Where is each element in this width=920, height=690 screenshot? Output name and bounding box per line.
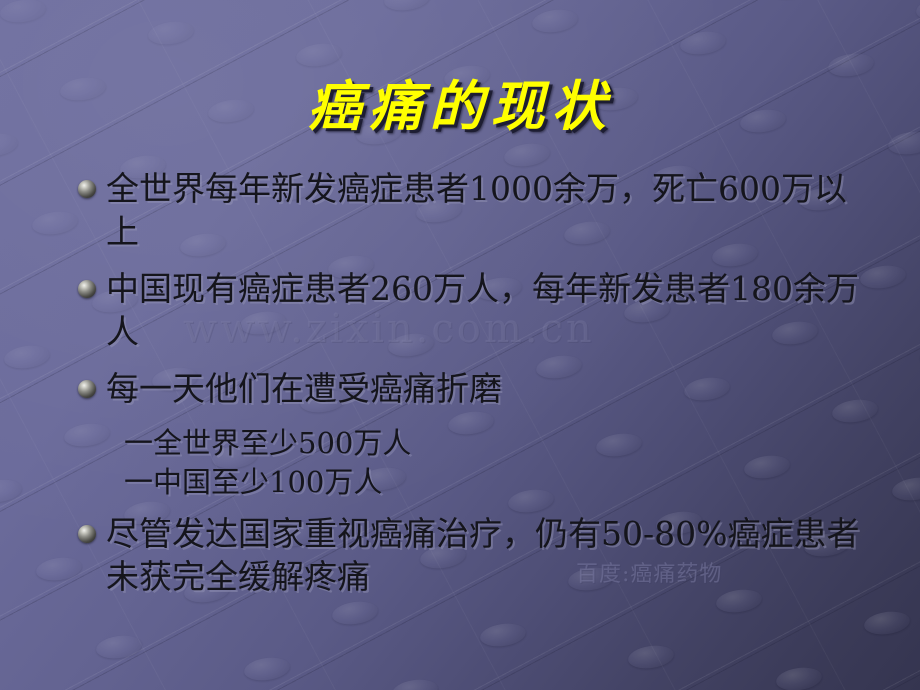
sphere-bullet-icon <box>78 180 96 198</box>
lattice-node <box>147 19 196 47</box>
lattice-node <box>383 0 432 13</box>
bullet-text: 中国现有癌症患者260万人，每年新发患者180余万人 <box>106 268 878 354</box>
lattice-node <box>679 29 728 57</box>
list-item: 尽管发达国家重视癌痛治疗，仍有50-80%癌症患者未获完全缓解疼痛 <box>78 513 878 599</box>
sub-list: 一全世界至少500万人 一中国至少100万人 <box>124 424 878 501</box>
lattice-node <box>391 677 440 690</box>
lattice-node <box>863 609 912 637</box>
bullet-text: 每一天他们在遭受癌痛折磨 <box>106 368 878 411</box>
sphere-bullet-icon <box>78 525 96 543</box>
sub-list-item: 一中国至少100万人 <box>124 463 878 501</box>
bullet-text: 尽管发达国家重视癌痛治疗，仍有50-80%癌症患者未获完全缓解疼痛 <box>106 513 878 599</box>
list-item: 每一天他们在遭受癌痛折磨 <box>78 368 878 411</box>
lattice-node <box>775 665 824 690</box>
lattice-node <box>95 633 144 661</box>
presentation-slide: 癌痛的现状 全世界每年新发癌症患者1000余万，死亡600万以上 中国现有癌症患… <box>0 0 920 690</box>
sphere-bullet-icon <box>78 380 96 398</box>
lattice-node <box>503 141 552 169</box>
list-item: 中国现有癌症患者260万人，每年新发患者180余万人 <box>78 268 878 354</box>
lattice-node <box>3 343 52 371</box>
sphere-bullet-icon <box>78 280 96 298</box>
lattice-node <box>531 7 580 35</box>
lattice-node <box>35 555 84 583</box>
slide-title: 癌痛的现状 <box>0 62 920 141</box>
lattice-node <box>891 475 920 503</box>
bullet-text: 全世界每年新发癌症患者1000余万，死亡600万以上 <box>106 168 878 254</box>
lattice-node <box>767 0 816 1</box>
lattice-node <box>627 643 676 671</box>
lattice-node <box>243 655 292 683</box>
lattice-node <box>31 209 80 237</box>
lattice-node <box>0 477 23 505</box>
sub-list-item: 一全世界至少500万人 <box>124 424 878 462</box>
slide-body: 全世界每年新发癌症患者1000余万，死亡600万以上 中国现有癌症患者260万人… <box>78 168 878 613</box>
lattice-node <box>0 0 47 25</box>
lattice-node <box>915 0 920 23</box>
list-item: 全世界每年新发癌症患者1000余万，死亡600万以上 <box>78 168 878 254</box>
lattice-node <box>479 621 528 649</box>
